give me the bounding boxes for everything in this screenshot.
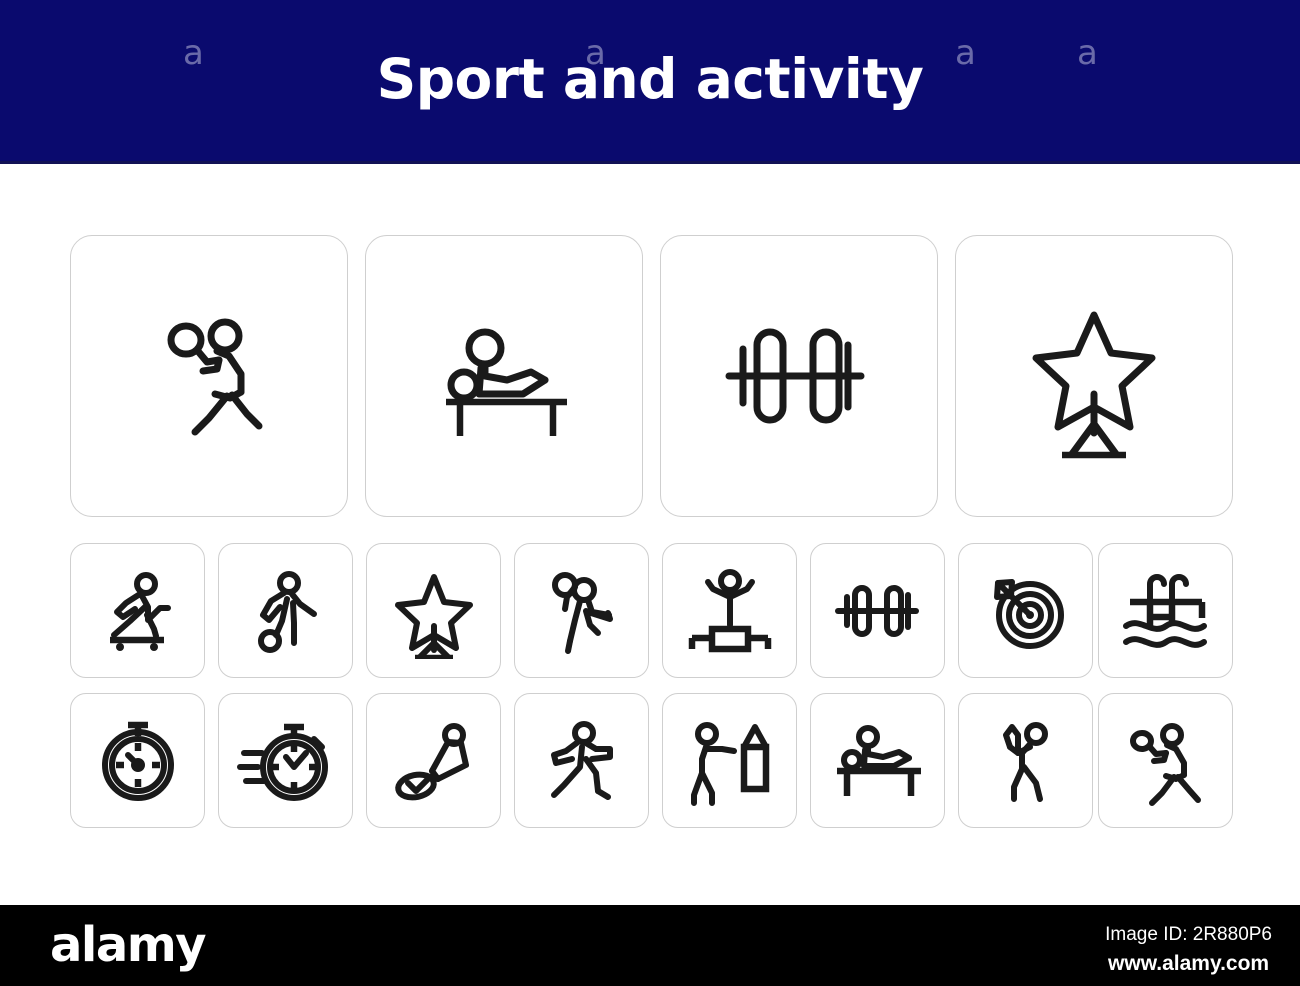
swimming-pool-icon: [1116, 568, 1216, 654]
soccer-player-icon: [238, 563, 334, 659]
icon-card-sit-ups-bench[interactable]: [365, 235, 643, 517]
target-arrow-icon: [978, 563, 1074, 659]
icon-card-boxing-bag[interactable]: [662, 693, 797, 828]
star-trophy-icon: [1014, 291, 1174, 461]
icon-card-speed-stopwatch[interactable]: [218, 693, 353, 828]
screenshot-root: a a a a Sport and activity: [0, 0, 1300, 986]
footer-credit-block: Image ID: 2R880P6 www.alamy.com: [1105, 923, 1272, 977]
icon-card-barbell[interactable]: [810, 543, 945, 678]
icon-card-star-trophy[interactable]: [955, 235, 1233, 517]
sit-ups-bench-icon: [419, 296, 589, 456]
shuttlecock-icon: [386, 713, 482, 809]
barbell-icon: [709, 301, 889, 451]
alamy-url: www.alamy.com: [1105, 950, 1272, 977]
icon-card-star-trophy[interactable]: [366, 543, 501, 678]
icon-card-basketball-thrower[interactable]: [514, 543, 649, 678]
boxing-bag-icon: [680, 713, 780, 809]
alamy-logo: alamy: [50, 921, 205, 969]
icon-card-swimming-pool[interactable]: [1098, 543, 1233, 678]
tennis-player-icon: [129, 296, 289, 456]
speed-stopwatch-icon: [236, 713, 336, 809]
stretching-person-icon: [534, 713, 630, 809]
image-id-label: Image ID: 2R880P6: [1105, 923, 1272, 948]
icon-board: [0, 164, 1300, 905]
icon-card-stretching-person[interactable]: [514, 693, 649, 828]
star-trophy-icon: [389, 563, 479, 659]
icon-card-sit-ups-bench[interactable]: [810, 693, 945, 828]
sit-ups-bench-icon: [825, 716, 931, 806]
icon-card-shuttlecock[interactable]: [366, 693, 501, 828]
watermark-footer-bar: alamy Image ID: 2R880P6 www.alamy.com: [0, 905, 1300, 986]
icon-card-soccer-player[interactable]: [218, 543, 353, 678]
icon-card-baseball-batter[interactable]: [958, 693, 1093, 828]
tennis-player-icon: [1118, 713, 1214, 809]
icon-card-tennis-player[interactable]: [70, 235, 348, 517]
icon-card-barbell[interactable]: [660, 235, 938, 517]
header-banner: a a a a Sport and activity: [0, 0, 1300, 164]
skateboarder-icon: [90, 563, 186, 659]
icon-card-stopwatch[interactable]: [70, 693, 205, 828]
icon-card-tennis-player[interactable]: [1098, 693, 1233, 828]
icon-card-skateboarder[interactable]: [70, 543, 205, 678]
barbell-icon: [828, 571, 928, 651]
basketball-thrower-icon: [534, 563, 630, 659]
page-title: Sport and activity: [0, 0, 1300, 164]
stopwatch-icon: [90, 713, 186, 809]
winner-podium-icon: [680, 563, 780, 659]
icon-card-winner-podium[interactable]: [662, 543, 797, 678]
baseball-batter-icon: [978, 713, 1074, 809]
icon-card-target-arrow[interactable]: [958, 543, 1093, 678]
